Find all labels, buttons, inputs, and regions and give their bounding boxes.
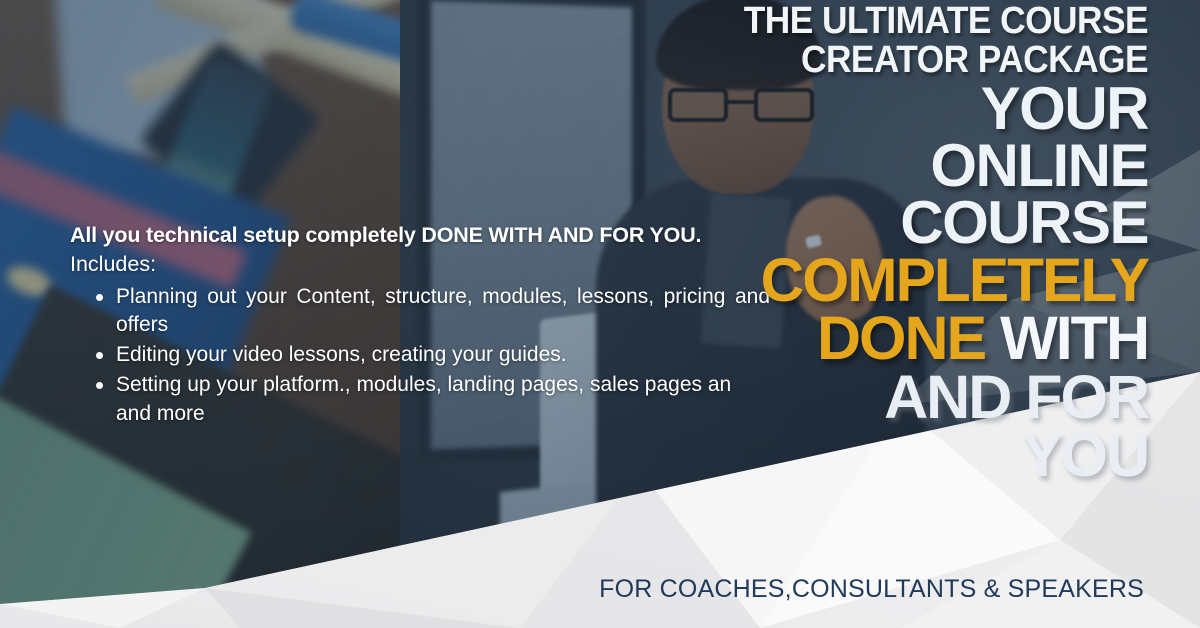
list-item-text: Editing your video lessons, creating you… bbox=[116, 343, 567, 366]
includes-label: Includes: bbox=[70, 251, 770, 279]
left-copy-block: All you technical setup completely DONE … bbox=[70, 222, 770, 430]
benefit-list: Planning out your Content, structure, mo… bbox=[70, 283, 770, 428]
headline-and-for: AND FOR bbox=[678, 368, 1148, 427]
headline-your: YOUR bbox=[678, 80, 1148, 137]
headline-done-with: DONE WITH bbox=[678, 309, 1148, 368]
headline-kicker-line1: THE ULTIMATE COURSE bbox=[711, 2, 1148, 41]
list-item: Setting up your platform., modules, land… bbox=[92, 371, 770, 427]
footer-tagline: FOR COACHES,CONSULTANTS & SPEAKERS bbox=[599, 575, 1144, 604]
promotional-banner: DELL bbox=[0, 0, 1200, 628]
lead-paragraph: All you technical setup completely DONE … bbox=[70, 222, 770, 249]
headline-online: ONLINE bbox=[678, 137, 1148, 194]
headline-course: COURSE bbox=[678, 194, 1148, 251]
list-item-text: Planning out your Content, structure, mo… bbox=[116, 283, 770, 339]
headline-stack: THE ULTIMATE COURSE CREATOR PACKAGE YOUR… bbox=[678, 2, 1148, 485]
list-item-text: Setting up your platform., modules, land… bbox=[116, 373, 731, 424]
headline-kicker-line2: CREATOR PACKAGE bbox=[711, 41, 1148, 80]
headline-completely: COMPLETELY bbox=[683, 251, 1148, 310]
headline-done: DONE bbox=[817, 304, 985, 372]
headline-with: WITH bbox=[1000, 304, 1148, 372]
list-item: Editing your video lessons, creating you… bbox=[92, 341, 770, 369]
list-item: Planning out your Content, structure, mo… bbox=[92, 283, 770, 339]
headline-you: YOU bbox=[678, 426, 1148, 485]
